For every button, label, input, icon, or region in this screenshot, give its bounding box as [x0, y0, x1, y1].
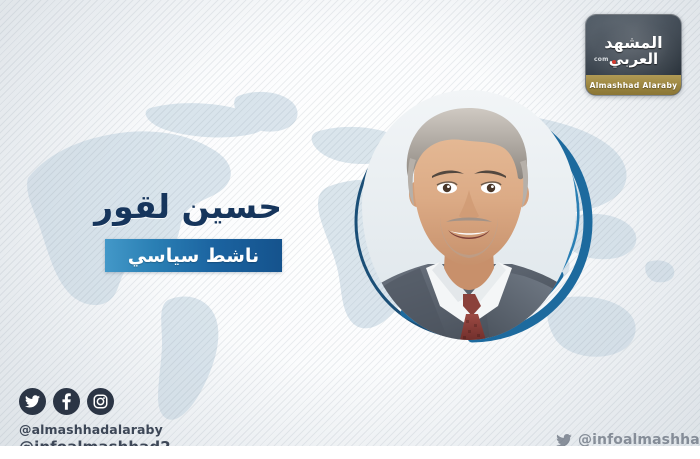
- twitter-icon[interactable]: [19, 388, 46, 415]
- portrait-photo: [362, 90, 576, 340]
- logo-com-text: com: [594, 56, 609, 63]
- person-name: حسين لقور: [94, 188, 282, 226]
- logo-latin-name: Almashhad Alaraby: [590, 81, 678, 90]
- handle-primary[interactable]: @almashhadalaraby: [19, 422, 171, 437]
- twitter-icon: [556, 434, 572, 447]
- person-title-text: ناشط سياسي: [128, 246, 259, 266]
- bottom-white-strip: [0, 446, 700, 459]
- social-media-card: حسين لقور ناشط سياسي المشهد العربي com A…: [0, 0, 700, 459]
- portrait-container: [348, 98, 590, 340]
- facebook-icon[interactable]: [53, 388, 80, 415]
- logo-red-dot-icon: [612, 60, 616, 64]
- brand-logo[interactable]: المشهد العربي com Almashhad Alaraby: [585, 14, 682, 96]
- logo-arabic-line-1: المشهد: [586, 34, 681, 51]
- instagram-icon[interactable]: [87, 388, 114, 415]
- social-icons-row: [19, 388, 171, 415]
- person-title-badge: ناشط سياسي: [105, 239, 282, 272]
- logo-name-band: Almashhad Alaraby: [586, 75, 681, 95]
